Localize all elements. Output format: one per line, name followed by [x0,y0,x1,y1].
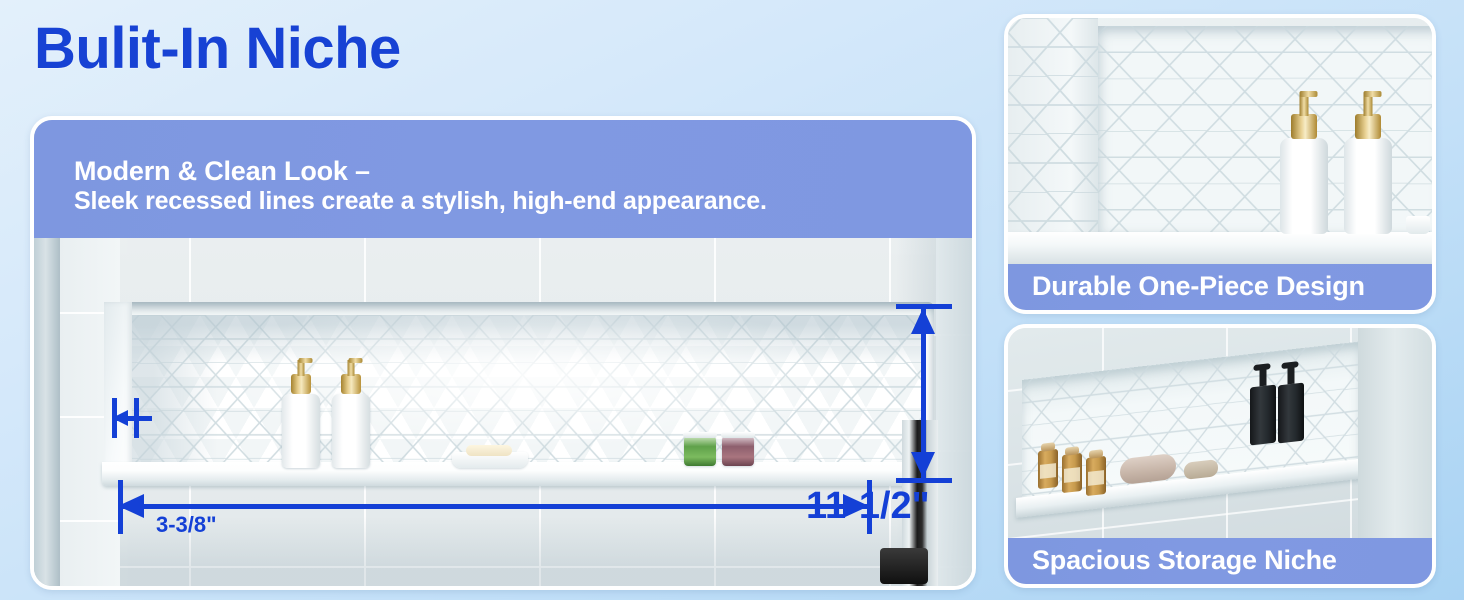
amber-apothecary-jar [1086,456,1106,496]
durable-design-caption-text: Durable One-Piece Design [1032,271,1365,302]
depth-dimension-label: 3-3/8" [156,512,217,538]
recessed-niche [104,302,934,482]
niche-interior [128,315,925,466]
page-title: Bulit-In Niche [34,20,401,78]
gold-pump-nozzle-icon [298,360,305,376]
infographic-root: Bulit-In Niche [0,0,1464,600]
soap-dish [452,452,528,468]
depth-left-arrowhead [112,410,128,426]
black-pump-icon [1260,368,1267,387]
gold-pump-nozzle-icon [1300,94,1309,116]
black-soap-dispenser [1278,383,1304,444]
storage-niche-caption-text: Spacious Storage Niche [1032,545,1337,576]
tr-white-soap-dispenser [1280,138,1328,234]
purple-candle-jar [722,436,754,466]
amber-apothecary-jar [1038,449,1058,489]
black-soap-dispenser [1250,385,1276,446]
gold-pump-cap-icon [1355,114,1381,139]
height-top-arrowhead [911,308,935,334]
height-dimension-label: 11-1/2" [806,485,930,528]
gold-pump-nozzle-icon [1364,94,1373,116]
width-left-arrowhead [118,494,144,518]
durable-design-caption: Durable One-Piece Design [1008,264,1432,310]
tr-side-wall [1008,18,1098,250]
shower-door-handle [880,548,928,584]
height-bottom-tick [896,478,952,483]
niche-lighting-overlay [128,315,925,466]
storage-niche-caption: Spacious Storage Niche [1008,538,1432,584]
gold-pump-cap-icon [291,374,311,394]
main-banner: Modern & Clean Look – Sleek recessed lin… [34,120,972,238]
gold-pump-cap-icon [1291,114,1317,139]
tr-white-soap-dispenser [1344,138,1392,234]
tr-small-cup [1406,216,1430,234]
main-banner-subline: Sleek recessed lines create a stylish, h… [74,187,767,216]
width-dimension-line [120,504,868,509]
gold-pump-cap-icon [341,374,361,394]
niche-left-return-wall [104,302,132,482]
storage-niche-card: Spacious Storage Niche [1004,324,1436,588]
tr-shelf-ledge [1008,232,1432,264]
green-candle-jar [684,436,716,466]
gold-pump-nozzle-icon [348,360,355,376]
height-bottom-arrowhead [911,452,935,478]
main-banner-headline: Modern & Clean Look – [74,156,370,187]
main-product-card: 60" 11-1/2" 3-3/8" Modern & Clean Look – [30,116,976,590]
black-pump-icon [1288,366,1295,385]
durable-design-card: Durable One-Piece Design [1004,14,1436,314]
white-soap-dispenser [282,394,320,468]
tr-sidewall-hexagon-overlay [1008,18,1098,250]
white-soap-dispenser [332,394,370,468]
amber-apothecary-jar [1062,453,1082,493]
